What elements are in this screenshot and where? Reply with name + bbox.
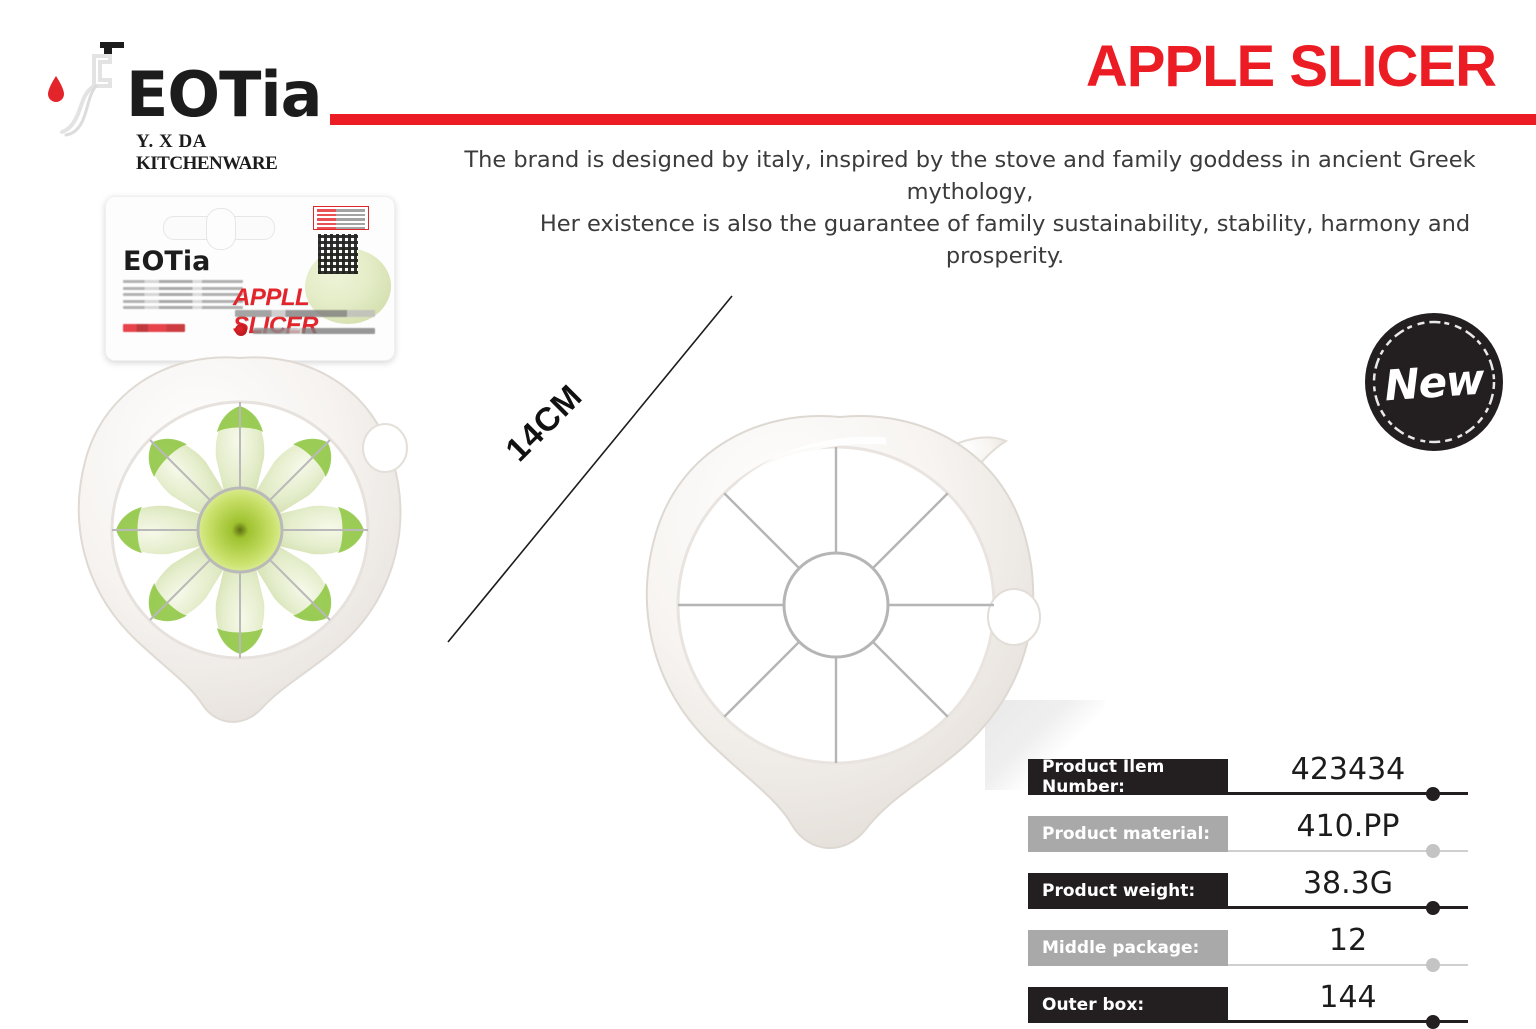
spec-label: Product material: xyxy=(1028,816,1228,852)
slicer-blades xyxy=(678,447,994,763)
spec-label: Product weight: xyxy=(1028,873,1228,909)
product-photo-main xyxy=(590,355,1090,865)
poster-canvas: EOTia Y. X DA KITCHENWARE APPLE SLICER T… xyxy=(0,0,1536,1024)
new-badge: New xyxy=(1363,311,1505,453)
euro-slot-icon xyxy=(163,216,275,240)
spec-row: 144 Outer box: xyxy=(1028,966,1508,1023)
tagline-line-2: Her existence is also the guarantee of f… xyxy=(430,208,1510,272)
brand-logo: EOTia Y. X DA KITCHENWARE xyxy=(38,36,338,140)
page-title: APPLE SLICER xyxy=(1086,38,1496,96)
logo-wordmark: EOTia xyxy=(126,64,321,126)
qr-code-icon xyxy=(318,234,358,274)
spec-label: Outer box: xyxy=(1028,987,1228,1023)
spec-label: Middle package: xyxy=(1028,930,1228,966)
package-body-text xyxy=(123,280,243,313)
apple-wedges xyxy=(112,402,368,658)
spec-dot xyxy=(1426,1015,1440,1029)
product-photo-with-apple xyxy=(40,330,460,740)
logo-subtitle: Y. X DA KITCHENWARE xyxy=(136,131,338,175)
package-logo: EOTia xyxy=(123,248,210,275)
header-divider xyxy=(330,114,1536,125)
spec-value: 38.3G xyxy=(1228,866,1468,901)
package-info-label xyxy=(313,206,369,230)
hang-hole xyxy=(363,424,407,472)
spec-row: 423434 Product Ilem Number: xyxy=(1028,738,1508,795)
spec-table: 423434 Product Ilem Number: 410.PP Produ… xyxy=(1028,738,1508,1023)
spec-label: Product Ilem Number: xyxy=(1028,759,1228,795)
spec-value: 423434 xyxy=(1228,752,1468,787)
spec-row: 38.3G Product weight: xyxy=(1028,852,1508,909)
brand-tagline: The brand is designed by italy, inspired… xyxy=(430,144,1510,272)
package-subtitle-text xyxy=(235,310,375,317)
badge-label: New xyxy=(1358,306,1510,458)
hang-hole xyxy=(988,589,1040,645)
spec-line xyxy=(1228,1020,1468,1023)
spec-value: 144 xyxy=(1228,980,1468,1015)
spec-value: 12 xyxy=(1228,923,1468,958)
spec-row: 410.PP Product material: xyxy=(1028,795,1508,852)
spec-value: 410.PP xyxy=(1228,809,1468,844)
spec-row: 12 Middle package: xyxy=(1028,909,1508,966)
tagline-line-1: The brand is designed by italy, inspired… xyxy=(430,144,1510,208)
